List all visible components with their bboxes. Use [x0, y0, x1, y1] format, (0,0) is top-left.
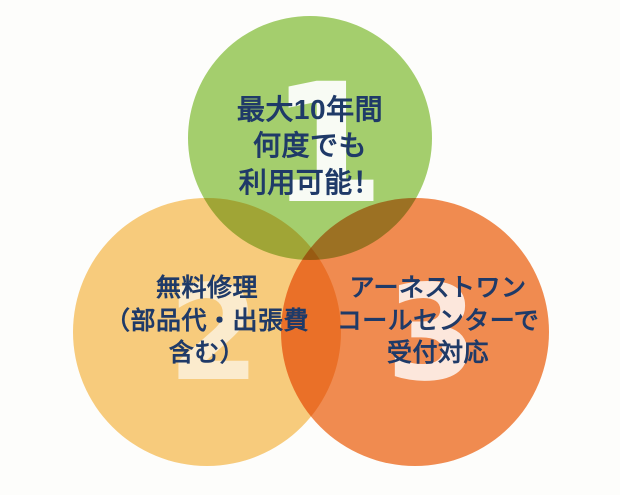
venn-label-orange: アーネストワン コールセンターで 受付対応 [310, 272, 566, 370]
venn-diagram: 1 2 3 最大10年間 何度でも 利用可能！ 無料修理 （部品代・出張費 含む… [0, 0, 620, 495]
venn-label-green: 最大10年間 何度でも 利用可能！ [190, 92, 430, 201]
venn-label-yellow: 無料修理 （部品代・出張費 含む） [70, 272, 344, 370]
venn-circle-layer [0, 0, 620, 495]
